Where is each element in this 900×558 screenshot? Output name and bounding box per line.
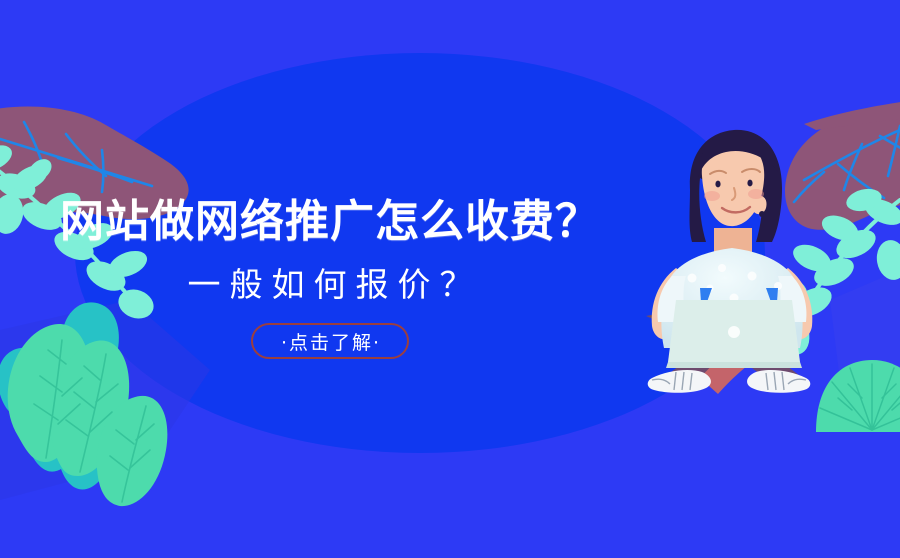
laptop-highlight	[728, 326, 740, 338]
learn-more-button[interactable]: ·点击了解·	[251, 323, 409, 359]
earring	[759, 211, 765, 217]
eye-left	[715, 181, 720, 188]
banner-subheadline: 一般如何报价？	[179, 268, 482, 301]
eye-right	[747, 180, 752, 187]
promo-banner: 网站做网络推广怎么收费？ 一般如何报价？ ·点击了解·	[0, 0, 900, 558]
blush-left	[704, 191, 720, 201]
laptop-base	[666, 362, 802, 368]
banner-headline: 网站做网络推广怎么收费？	[60, 200, 600, 244]
blush-right	[748, 189, 764, 199]
